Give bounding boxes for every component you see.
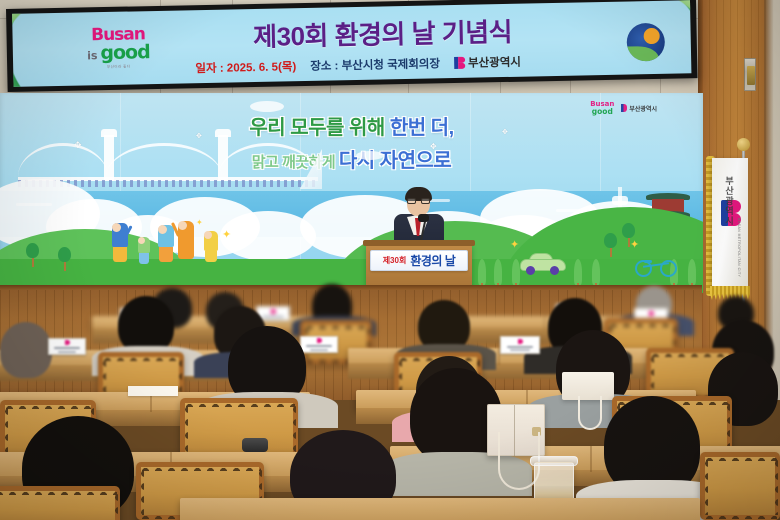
logo-good-text: good (100, 43, 150, 63)
sparkle-icon: ✦ (510, 240, 519, 251)
microphone-icon (418, 214, 429, 222)
podium-sign-prefix: 제30회 (383, 255, 407, 266)
eyeglasses-icon (407, 198, 430, 204)
tree-icon (604, 233, 617, 257)
door-handle-icon[interactable] (744, 58, 756, 91)
stage-backdrop: Busan good 부산광역시 우리 모두를 위해 한번 더, 맑고 깨끗하게… (0, 93, 703, 293)
citizen-figure (138, 237, 150, 271)
document-paper (128, 386, 178, 396)
wood-panel-top-trim (0, 285, 702, 290)
citizen-figure (112, 223, 128, 271)
desk (180, 498, 700, 520)
attendee-head (0, 322, 52, 378)
seagull-icon: ✥ (502, 129, 508, 136)
seagull-icon: ✥ (430, 143, 437, 151)
citizens-illustration: ✦ ✦ (112, 207, 262, 271)
tree-icon (58, 247, 71, 271)
sparkle-icon: ✦ (630, 240, 639, 251)
banner-organizer-label: 부산광역시 (468, 54, 521, 71)
citizen-figure (158, 225, 174, 271)
tree-icon (26, 243, 39, 267)
event-title-banner: Busan is good 부산이라 좋다 제30회 환경의 날 기념식 일자 … (6, 0, 698, 92)
slogan-line1-part-b: 한번 더, (390, 117, 454, 139)
tote-bag-strap (578, 396, 602, 430)
podium-sign: 제30회 환경의 날 (370, 250, 468, 271)
chair[interactable] (700, 452, 780, 520)
desk-microphone-base (242, 438, 268, 452)
banner-date: 일자 : 2025. 6. 5(목) (195, 58, 296, 76)
bicycle-illustration (635, 255, 679, 277)
podium-sign-title: 환경의 날 (410, 252, 455, 269)
citizen-figure (204, 231, 218, 271)
citizen-figure (178, 221, 194, 271)
sparkle-icon: ✦ (196, 219, 203, 227)
flag-label: 부산광역시 (723, 176, 736, 226)
flag-sublabel: BUSAN METROPOLITAN CITY (737, 218, 741, 277)
name-placard (500, 336, 540, 354)
sparkle-icon: ✦ (222, 230, 231, 241)
banner-subline: 일자 : 2025. 6. 5(목) 장소 : 부산시청 국제회의장 부산광역시 (123, 52, 593, 77)
banner-organizer: 부산광역시 (454, 54, 521, 71)
logo-is-text: is (87, 50, 98, 61)
banner-title: 제30회 환경의 날 기념식 (172, 10, 593, 55)
busan-city-mark-icon (454, 57, 465, 69)
banner-place: 장소 : 부산시청 국제회의장 (310, 55, 440, 74)
eco-car-illustration (520, 255, 566, 275)
name-placard (48, 338, 86, 355)
flag-finial-icon (737, 138, 750, 151)
photo-scene: Busan is good 부산이라 좋다 제30회 환경의 날 기념식 일자 … (0, 0, 780, 520)
name-placard (300, 336, 338, 353)
chair[interactable] (0, 486, 120, 520)
busan-city-flag: 부산광역시 BUSAN METROPOLITAN CITY (712, 158, 748, 290)
